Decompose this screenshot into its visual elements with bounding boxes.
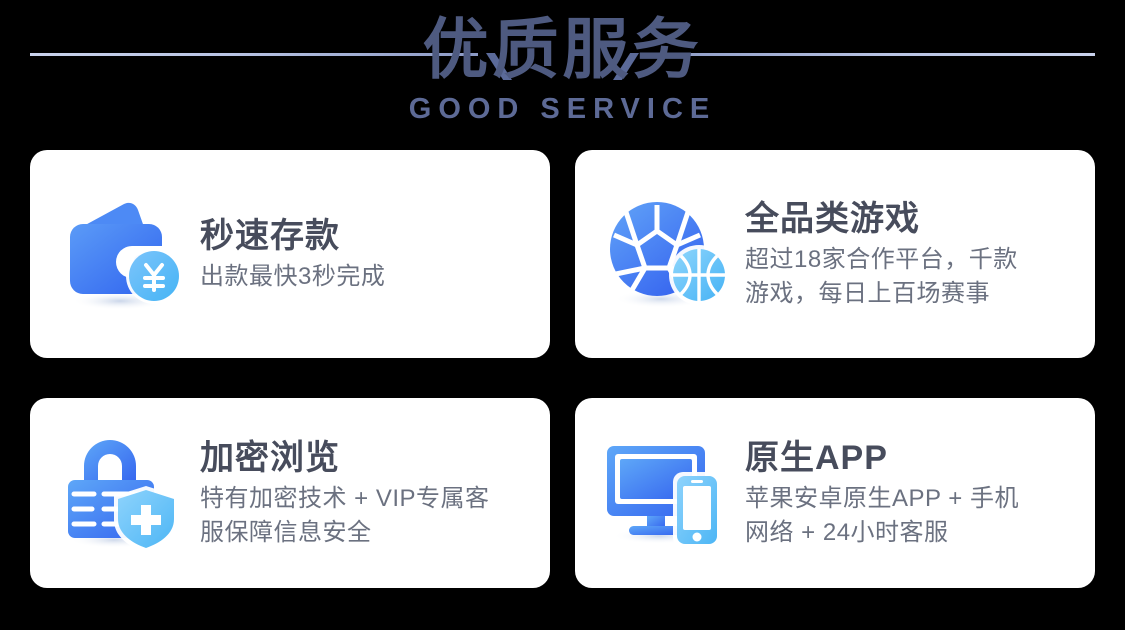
card-description-line: 出款最快3秒完成 (200, 260, 385, 294)
card-text-encryption: 加密浏览 特有加密技术 + VIP专属客 服保障信息安全 (190, 436, 502, 550)
card-description-line: 游戏，每日上百场赛事 (745, 277, 1018, 311)
card-description: 特有加密技术 + VIP专属客 服保障信息安全 (200, 482, 490, 550)
page-header: 优质服务 GOOD SERVICE (0, 0, 1125, 140)
monitor-phone-icon (599, 428, 735, 558)
lock-shield-icon (54, 428, 190, 558)
soccer-basketball-icon (599, 189, 735, 319)
feature-card-games[interactable]: 全品类游戏 超过18家合作平台，千款 游戏，每日上百场赛事 (575, 150, 1095, 358)
promo-page: 优质服务 GOOD SERVICE (0, 0, 1125, 630)
card-description: 苹果安卓原生APP + 手机 网络 + 24小时客服 (745, 482, 1019, 550)
header-title-block: 优质服务 GOOD SERVICE (0, 8, 1125, 126)
card-description-line: 超过18家合作平台，千款 (745, 243, 1018, 277)
card-title: 全品类游戏 (745, 197, 1018, 241)
feature-card-native-app[interactable]: 原生APP 苹果安卓原生APP + 手机 网络 + 24小时客服 (575, 398, 1095, 588)
feature-card-grid: 秒速存款 出款最快3秒完成 (30, 150, 1095, 590)
feature-card-deposit[interactable]: 秒速存款 出款最快3秒完成 (30, 150, 550, 358)
card-title: 加密浏览 (200, 436, 490, 480)
page-subtitle: GOOD SERVICE (0, 92, 1125, 126)
card-description-line: 网络 + 24小时客服 (745, 516, 1019, 550)
card-description: 出款最快3秒完成 (200, 260, 385, 294)
card-title: 原生APP (745, 436, 1019, 480)
card-description: 超过18家合作平台，千款 游戏，每日上百场赛事 (745, 243, 1018, 311)
card-text-deposit: 秒速存款 出款最快3秒完成 (190, 214, 397, 294)
card-description-line: 服保障信息安全 (200, 516, 490, 550)
card-description-line: 苹果安卓原生APP + 手机 (745, 482, 1019, 516)
card-text-native-app: 原生APP 苹果安卓原生APP + 手机 网络 + 24小时客服 (735, 436, 1031, 550)
card-description-line: 特有加密技术 + VIP专属客 (200, 482, 490, 516)
card-title: 秒速存款 (200, 214, 385, 258)
page-title: 优质服务 (0, 8, 1125, 90)
feature-card-encryption[interactable]: 加密浏览 特有加密技术 + VIP专属客 服保障信息安全 (30, 398, 550, 588)
wallet-yen-icon (54, 189, 190, 319)
card-text-games: 全品类游戏 超过18家合作平台，千款 游戏，每日上百场赛事 (735, 197, 1030, 311)
